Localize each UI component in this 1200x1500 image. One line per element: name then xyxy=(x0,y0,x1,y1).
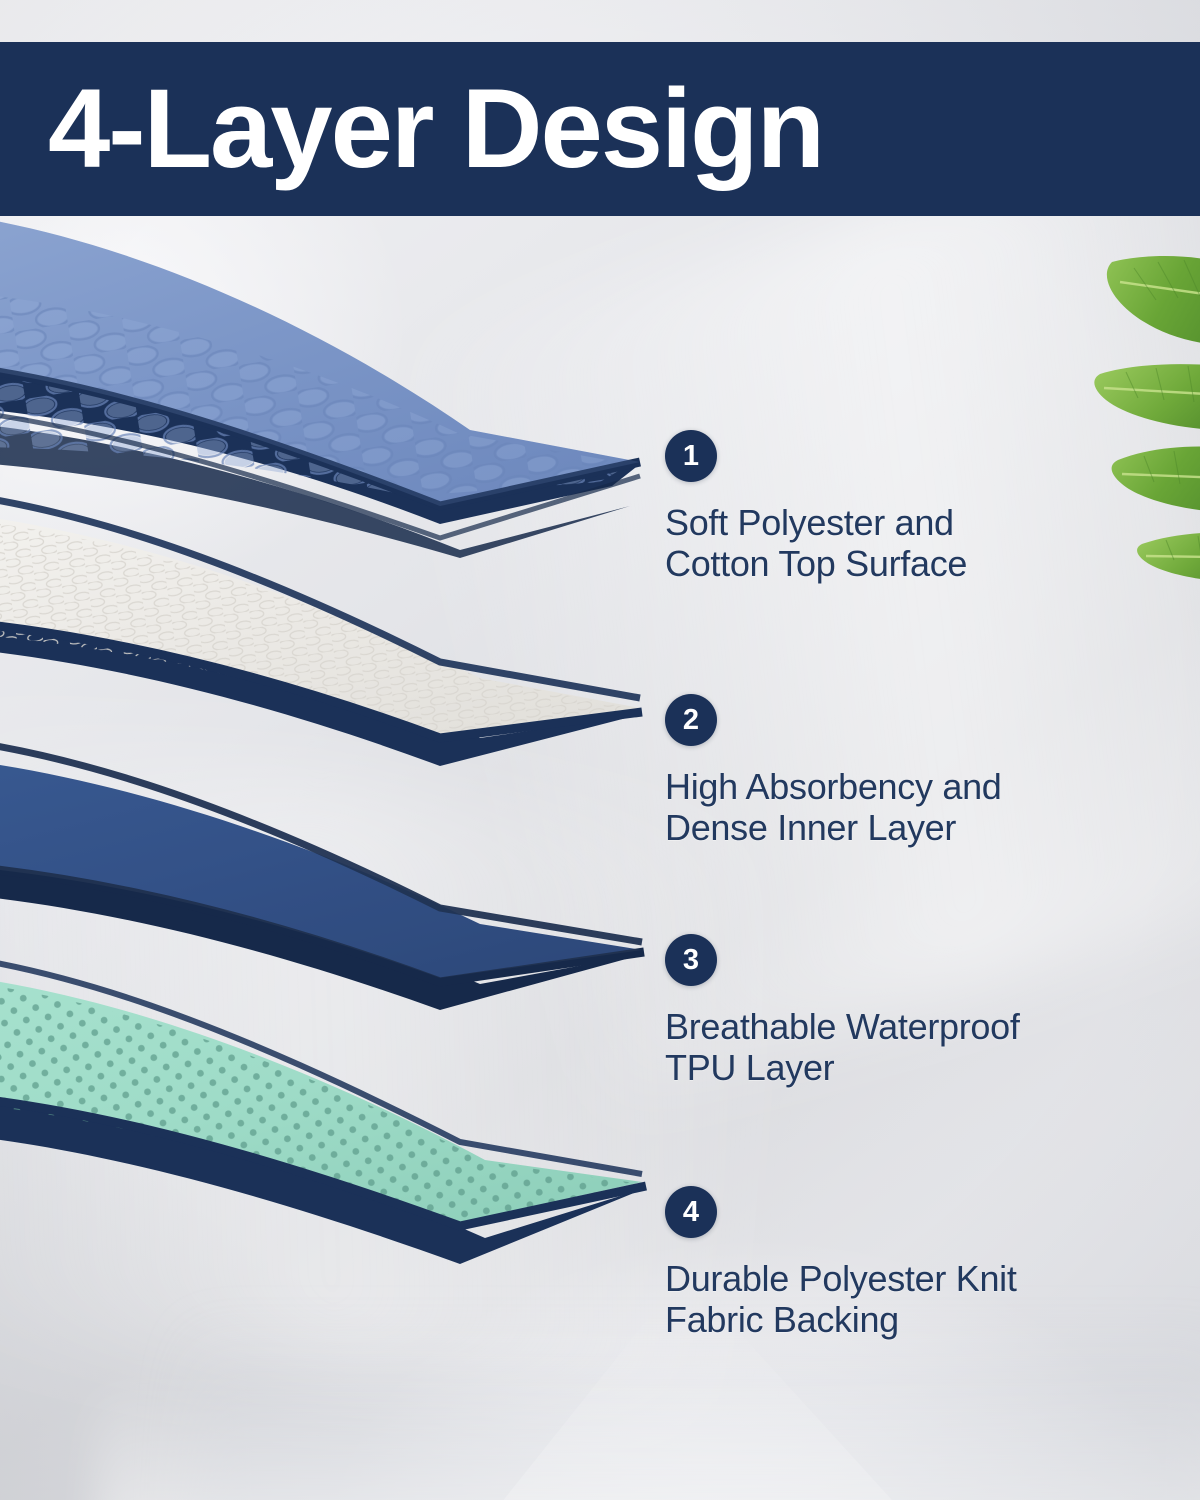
callout-list: 1 Soft Polyester and Cotton Top Surface … xyxy=(0,0,1200,1500)
callout-label-3: Breathable Waterproof TPU Layer xyxy=(665,1006,1020,1088)
page-title: 4-Layer Design xyxy=(0,73,823,185)
badge-number-3: 3 xyxy=(665,934,717,986)
callout-label-1: Soft Polyester and Cotton Top Surface xyxy=(665,502,967,584)
callout-1: 1 Soft Polyester and Cotton Top Surface xyxy=(665,430,967,584)
infographic-page: 4-Layer Design 1 Soft Polyester and Cott… xyxy=(0,0,1200,1500)
badge-number-2: 2 xyxy=(665,694,717,746)
header-banner: 4-Layer Design xyxy=(0,42,1200,216)
badge-number-4: 4 xyxy=(665,1186,717,1238)
callout-label-4: Durable Polyester Knit Fabric Backing xyxy=(665,1258,1017,1340)
callout-3: 3 Breathable Waterproof TPU Layer xyxy=(665,934,1020,1088)
callout-4: 4 Durable Polyester Knit Fabric Backing xyxy=(665,1186,1017,1340)
badge-number-1: 1 xyxy=(665,430,717,482)
callout-label-2: High Absorbency and Dense Inner Layer xyxy=(665,766,1002,848)
callout-2: 2 High Absorbency and Dense Inner Layer xyxy=(665,694,1002,848)
